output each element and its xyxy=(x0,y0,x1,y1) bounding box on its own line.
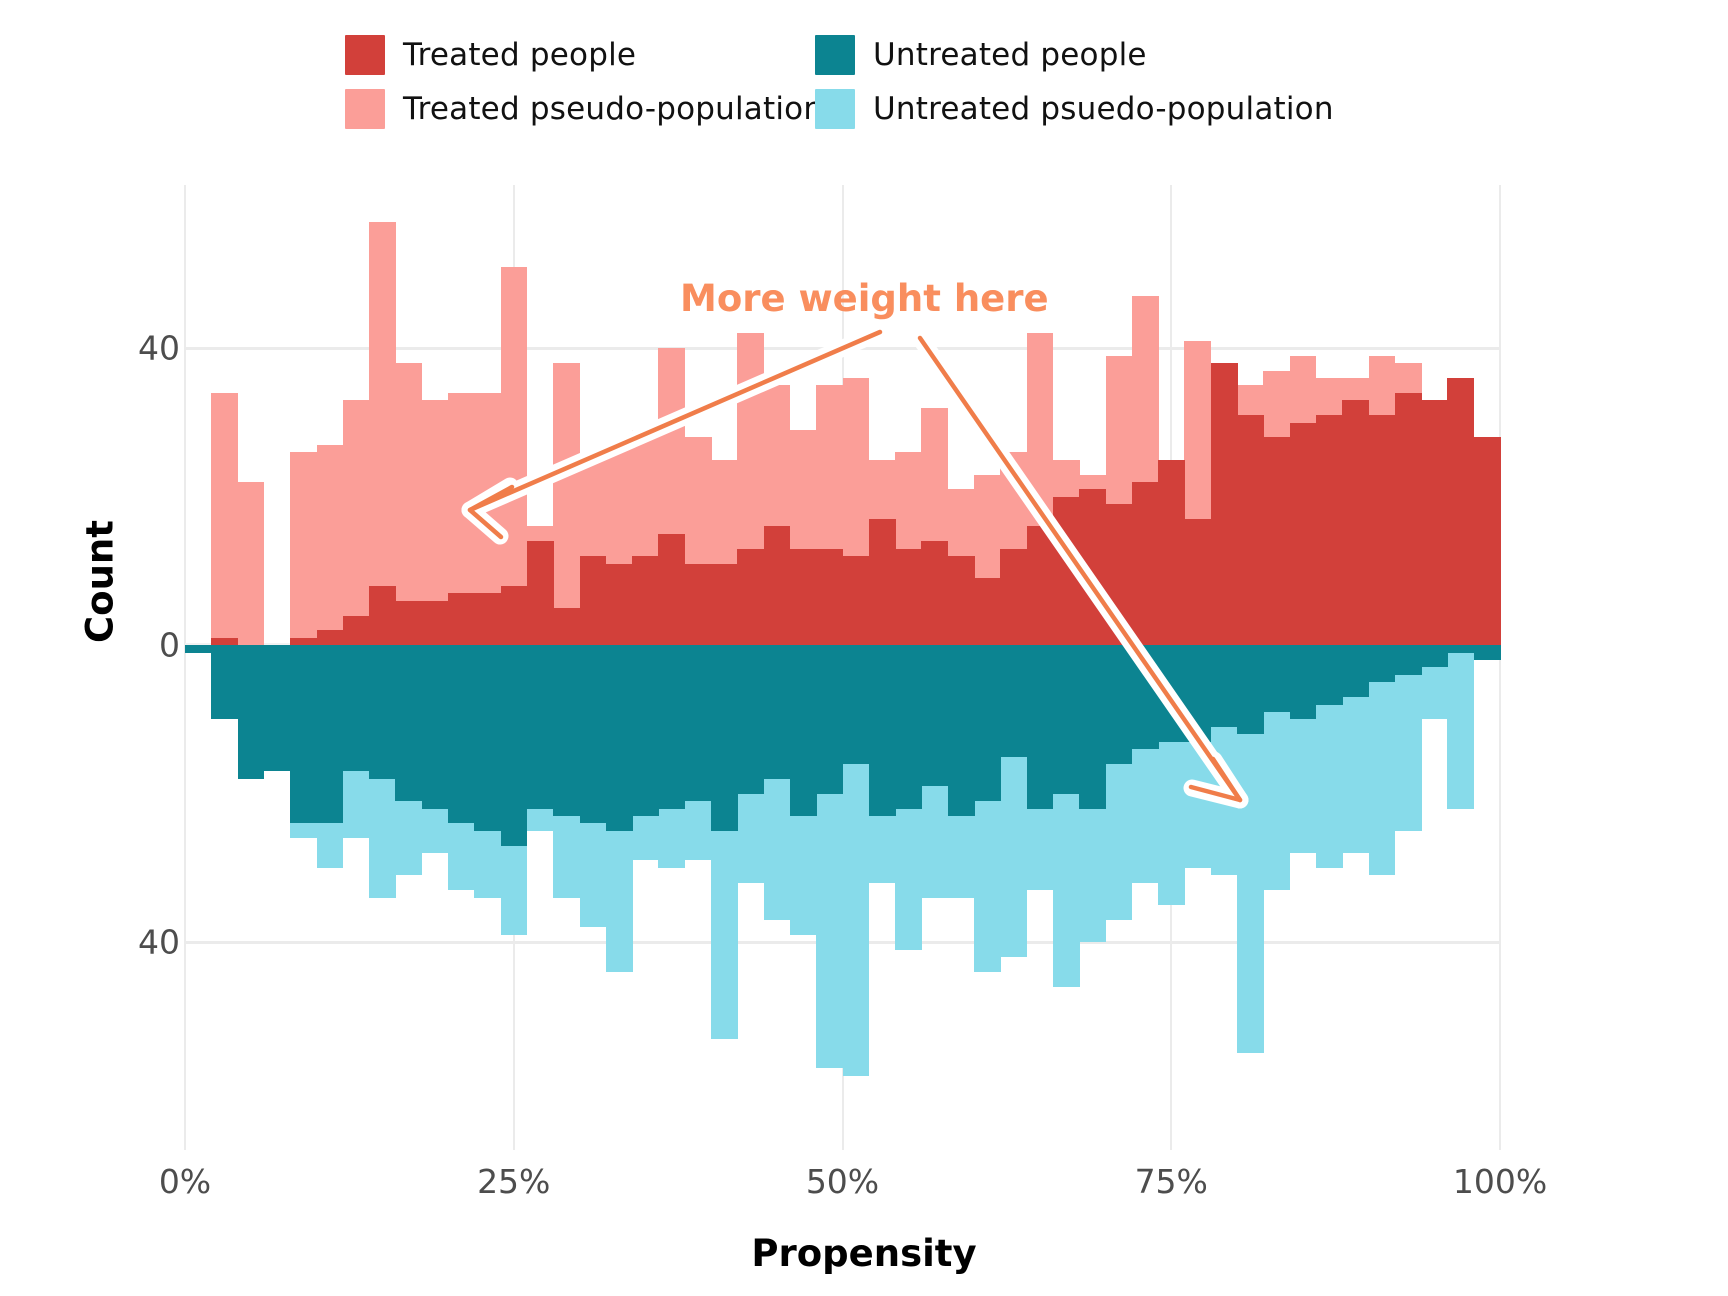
x-tick-label: 25% xyxy=(414,1162,614,1201)
histogram-bar xyxy=(527,645,554,808)
histogram-bar xyxy=(737,549,764,646)
histogram-bar xyxy=(974,645,1001,801)
histogram-bar xyxy=(921,645,948,786)
legend-item-treated-people: Treated people xyxy=(345,35,815,75)
x-axis-title: Propensity xyxy=(0,1232,1728,1275)
histogram-bar xyxy=(948,556,975,645)
histogram-bar xyxy=(448,593,475,645)
histogram-bar xyxy=(343,645,370,771)
histogram-bar xyxy=(1000,645,1027,756)
histogram-bar xyxy=(501,586,528,645)
legend-label-untreated-pseudo: Untreated psuedo-population xyxy=(873,91,1334,127)
histogram-bar xyxy=(1211,363,1238,645)
histogram-bar xyxy=(1342,400,1369,645)
histogram-bar xyxy=(422,601,449,646)
histogram-bar xyxy=(1184,645,1211,742)
histogram-bar xyxy=(395,601,422,646)
histogram-bar xyxy=(369,645,396,779)
histogram-bar xyxy=(211,638,238,645)
histogram-bar xyxy=(606,645,633,831)
histogram-bar xyxy=(1474,645,1501,660)
histogram-bar xyxy=(1342,645,1369,697)
histogram-bar xyxy=(1447,378,1474,645)
histogram-bar xyxy=(1079,645,1106,808)
histogram-bar xyxy=(580,556,607,645)
histogram-bar xyxy=(1316,645,1343,704)
histogram-bar xyxy=(606,564,633,646)
histogram-bar xyxy=(869,519,896,645)
histogram-bar xyxy=(290,452,317,645)
histogram-bar xyxy=(790,645,817,816)
histogram-bar xyxy=(553,363,580,645)
histogram-bar xyxy=(211,393,238,645)
histogram-bar xyxy=(317,630,344,645)
histogram-bar xyxy=(553,608,580,645)
histogram-bar xyxy=(527,541,554,645)
histogram-bar xyxy=(238,645,265,779)
gridline-vertical xyxy=(184,185,186,1150)
annotation-label: More weight here xyxy=(680,277,1049,320)
histogram-bar xyxy=(238,482,265,645)
chart-legend: Treated people Untreated people Treated … xyxy=(345,28,1365,138)
legend-label-untreated-people: Untreated people xyxy=(873,37,1147,73)
histogram-bar xyxy=(290,638,317,645)
histogram-bar xyxy=(1474,437,1501,645)
histogram-bar xyxy=(343,400,370,645)
histogram-bar xyxy=(1132,645,1159,749)
histogram-bar xyxy=(474,645,501,831)
histogram-bar xyxy=(1263,437,1290,645)
histogram-bar xyxy=(211,645,238,719)
histogram-bar xyxy=(1106,504,1133,645)
histogram-bar xyxy=(1316,415,1343,645)
histogram-bar xyxy=(1000,549,1027,646)
histogram-bar xyxy=(921,541,948,645)
histogram-bar xyxy=(974,578,1001,645)
histogram-bar xyxy=(580,645,607,823)
x-tick-label: 100% xyxy=(1400,1162,1600,1201)
histogram-bar xyxy=(317,445,344,645)
histogram-bar xyxy=(343,616,370,646)
legend-swatch-untreated-people xyxy=(815,35,855,75)
histogram-bar xyxy=(816,549,843,646)
x-tick-label: 0% xyxy=(85,1162,285,1201)
histogram-bar xyxy=(1237,415,1264,645)
histogram-bar xyxy=(948,645,975,816)
histogram-bar xyxy=(1421,400,1448,645)
histogram-bar xyxy=(790,549,817,646)
plot-panel xyxy=(185,185,1500,1150)
histogram-bar xyxy=(869,645,896,816)
histogram-bar xyxy=(764,526,791,645)
y-tick-label: 40 xyxy=(0,329,180,368)
histogram-bar xyxy=(185,645,212,652)
histogram-bar xyxy=(895,549,922,646)
histogram-bar xyxy=(816,645,843,793)
y-axis-title: Count xyxy=(79,462,122,702)
histogram-bar xyxy=(1053,497,1080,645)
histogram-bar xyxy=(474,593,501,645)
histogram-bar xyxy=(895,645,922,808)
histogram-bar xyxy=(1158,645,1185,742)
histogram-bar xyxy=(1369,645,1396,682)
y-tick-label: 40 xyxy=(0,923,180,962)
y-tick-label: 0 xyxy=(0,626,180,665)
histogram-bar xyxy=(1395,393,1422,645)
gridline-vertical xyxy=(1499,185,1501,1150)
histogram-bar xyxy=(264,645,291,771)
legend-swatch-untreated-pseudo xyxy=(815,89,855,129)
histogram-bar xyxy=(369,586,396,645)
histogram-bar xyxy=(1053,645,1080,793)
histogram-bar xyxy=(317,645,344,823)
histogram-bar xyxy=(632,556,659,645)
histogram-bar xyxy=(290,645,317,823)
histogram-bar xyxy=(1132,482,1159,645)
histogram-bar xyxy=(422,645,449,808)
histogram-bar xyxy=(1211,645,1238,727)
histogram-bar xyxy=(658,645,685,808)
legend-item-untreated-pseudo: Untreated psuedo-population xyxy=(815,89,1285,129)
histogram-bar xyxy=(1421,645,1448,667)
histogram-bar xyxy=(1369,415,1396,645)
histogram-bar xyxy=(658,534,685,645)
histogram-bar xyxy=(1106,645,1133,764)
histogram-bar xyxy=(685,645,712,801)
histogram-bar xyxy=(711,645,738,831)
legend-swatch-treated-pseudo xyxy=(345,89,385,129)
histogram-bar xyxy=(1158,460,1185,646)
x-tick-label: 75% xyxy=(1071,1162,1271,1201)
histogram-bar xyxy=(632,645,659,816)
histogram-bar xyxy=(685,564,712,646)
legend-label-treated-people: Treated people xyxy=(403,37,636,73)
histogram-bar xyxy=(448,645,475,823)
legend-item-untreated-people: Untreated people xyxy=(815,35,1285,75)
x-tick-label: 50% xyxy=(743,1162,943,1201)
histogram-bar xyxy=(1290,423,1317,646)
histogram-bar xyxy=(1184,519,1211,645)
histogram-bar xyxy=(1447,645,1474,808)
histogram-bar xyxy=(395,645,422,801)
histogram-bar xyxy=(1395,645,1422,675)
histogram-bar xyxy=(764,645,791,779)
histogram-bar xyxy=(843,556,870,645)
legend-label-treated-pseudo: Treated pseudo-population xyxy=(403,91,823,127)
histogram-bar xyxy=(1263,645,1290,712)
histogram-bar xyxy=(1447,645,1474,652)
histogram-bar xyxy=(737,645,764,793)
histogram-bar xyxy=(501,645,528,845)
histogram-bar xyxy=(369,222,396,645)
histogram-bar xyxy=(1027,645,1054,808)
legend-item-treated-pseudo: Treated pseudo-population xyxy=(345,89,815,129)
histogram-bar xyxy=(553,645,580,816)
histogram-bar xyxy=(1237,645,1264,734)
histogram-bar xyxy=(1027,526,1054,645)
histogram-bar xyxy=(843,645,870,764)
histogram-bar xyxy=(1079,489,1106,645)
legend-swatch-treated-people xyxy=(345,35,385,75)
histogram-bar xyxy=(711,564,738,646)
histogram-bar xyxy=(1290,645,1317,719)
